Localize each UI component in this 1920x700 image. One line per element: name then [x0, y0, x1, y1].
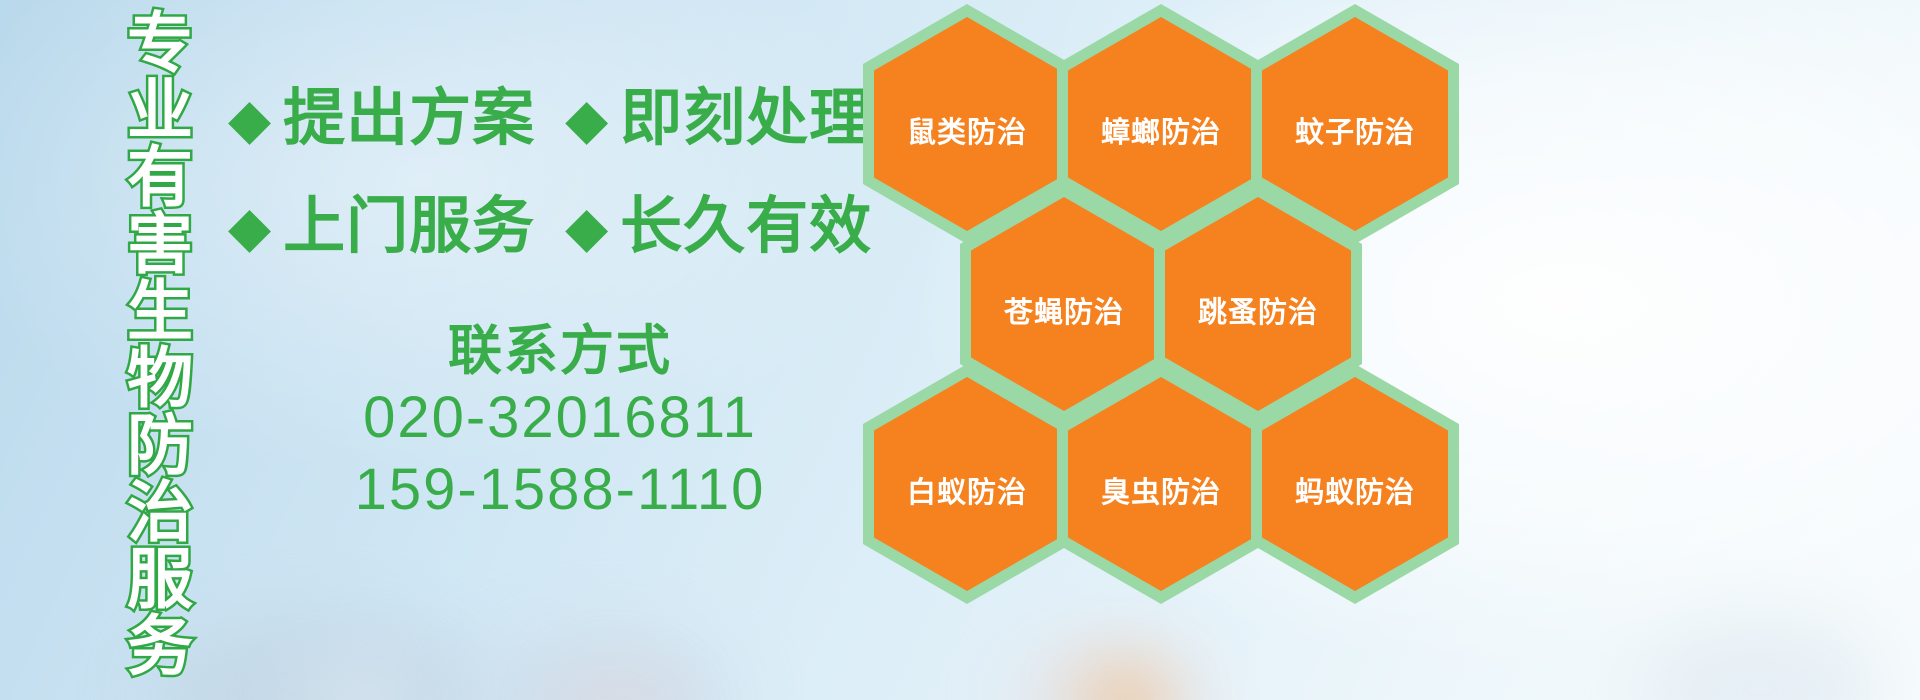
- vertical-headline-char: 服: [127, 546, 193, 613]
- vertical-headline-char: 害: [127, 211, 193, 278]
- contact-title: 联系方式: [300, 320, 820, 382]
- diamond-bullet-icon: ◆: [228, 91, 271, 147]
- service-hex-inner: 跳蚤防治: [1165, 197, 1351, 411]
- vertical-headline-char: 生: [127, 278, 193, 345]
- service-hex-inner: 臭虫防治: [1068, 377, 1254, 591]
- diamond-bullet-icon: ◆: [565, 199, 608, 255]
- feature-row-2: ◆ 上门服务 ◆ 长久有效: [228, 196, 902, 258]
- feature-row-1: ◆ 提出方案 ◆ 即刻处理: [228, 88, 902, 150]
- vertical-headline-char: 务: [127, 613, 193, 680]
- service-hex-label: 跳蚤防治: [1198, 289, 1318, 331]
- service-hex-label: 鼠类防治: [907, 109, 1027, 151]
- vertical-headline: 专 业 有 害 生 物 防 治 服 务: [112, 10, 208, 570]
- vertical-headline-char: 专: [127, 10, 193, 77]
- phone-number-mobile[interactable]: 159-1588-1110: [300, 454, 820, 526]
- feature-label: 即刻处理: [620, 88, 872, 150]
- contact-block: 联系方式 020-32016811 159-1588-1110: [300, 320, 820, 526]
- diamond-bullet-icon: ◆: [228, 199, 271, 255]
- service-hex-inner: 鼠类防治: [874, 17, 1060, 231]
- service-hex-label: 臭虫防治: [1101, 469, 1221, 511]
- service-hex-label: 蚂蚁防治: [1295, 469, 1415, 511]
- background-blur-blob: [300, 658, 420, 700]
- service-hex-inner: 蟑螂防治: [1068, 17, 1254, 231]
- service-hexagon-cluster: 鼠类防治 蟑螂防治 蚊子防治 苍蝇防治 跳蚤防治 白蚁防治: [855, 0, 1475, 700]
- service-hex-label: 蚊子防治: [1295, 109, 1415, 151]
- service-hex-inner: 蚊子防治: [1262, 17, 1448, 231]
- service-hex-label: 苍蝇防治: [1004, 289, 1124, 331]
- service-hex-label: 蟑螂防治: [1101, 109, 1221, 151]
- background-blur-blob: [1640, 620, 1880, 700]
- promo-banner: 专 业 有 害 生 物 防 治 服 务 ◆ 提出方案 ◆ 即刻处理 ◆ 上门服务…: [0, 0, 1920, 700]
- vertical-headline-char: 业: [127, 77, 193, 144]
- background-blur-blob: [470, 630, 730, 700]
- vertical-headline-char: 有: [127, 144, 193, 211]
- feature-label: 提出方案: [283, 88, 535, 150]
- service-hex-label: 白蚁防治: [907, 469, 1027, 511]
- vertical-headline-char: 防: [127, 412, 193, 479]
- vertical-headline-char: 治: [127, 479, 193, 546]
- background-blur-blob: [150, 620, 480, 700]
- feature-label: 长久有效: [620, 196, 872, 258]
- diamond-bullet-icon: ◆: [565, 91, 608, 147]
- background-blur-blob: [560, 675, 670, 700]
- service-hex-inner: 蚂蚁防治: [1262, 377, 1448, 591]
- phone-number-landline[interactable]: 020-32016811: [300, 382, 820, 454]
- service-hex-inner: 白蚁防治: [874, 377, 1060, 591]
- feature-label: 上门服务: [283, 196, 535, 258]
- vertical-headline-char: 物: [127, 345, 193, 412]
- service-hex-inner: 苍蝇防治: [971, 197, 1157, 411]
